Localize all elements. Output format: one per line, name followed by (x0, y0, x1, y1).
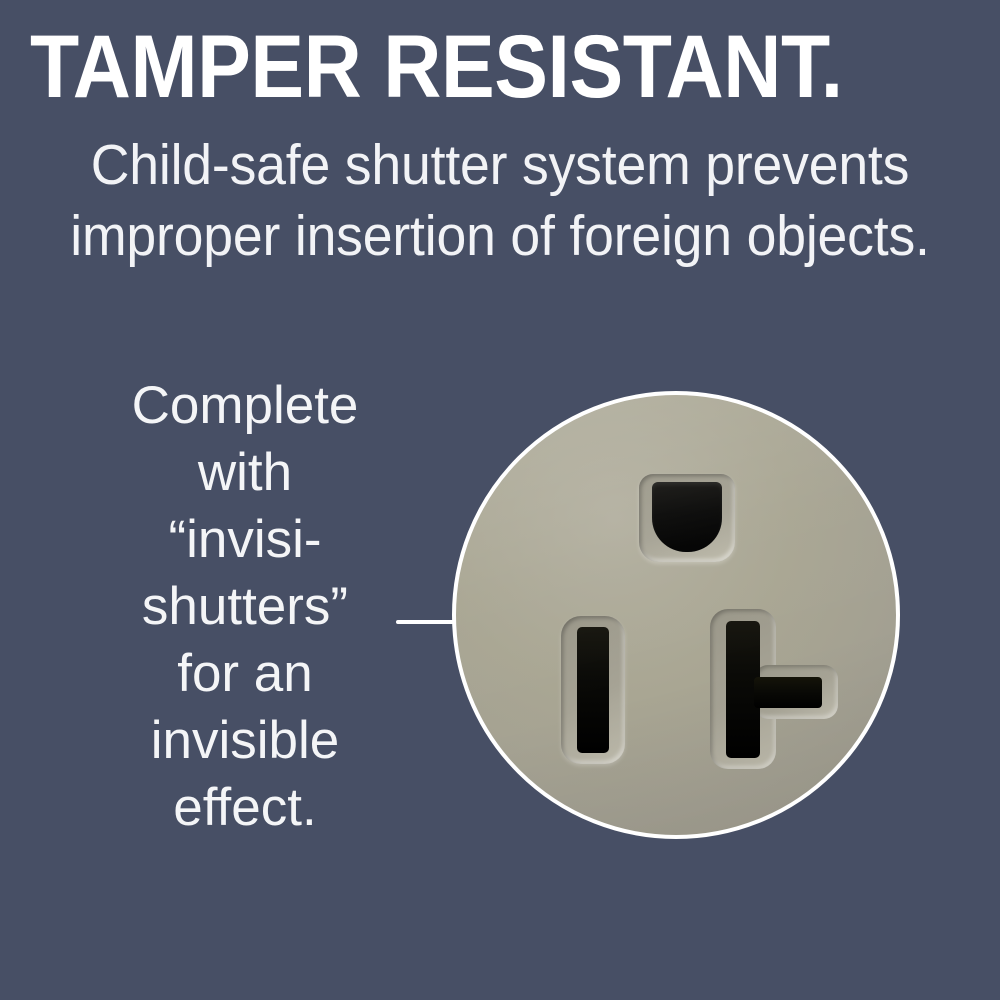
subtitle: Child-safe shutter system prevents impro… (0, 130, 1000, 272)
caption-line-6: invisible (75, 707, 415, 774)
ground-hole-icon (652, 482, 722, 552)
hot-t-slot-arm-icon (754, 677, 822, 708)
hot-slot-recess (710, 609, 838, 769)
subtitle-line-1: Child-safe shutter system prevents (30, 130, 970, 201)
outlet-magnifier-circle (452, 391, 900, 839)
caption-line-3: “invisi- (75, 506, 415, 573)
callout-caption: Complete with “invisi- shutters” for an … (75, 372, 415, 841)
caption-line-7: effect. (75, 774, 415, 841)
caption-line-1: Complete (75, 372, 415, 439)
neutral-slot-recess (561, 616, 625, 764)
caption-line-4: shutters” (75, 573, 415, 640)
neutral-slot-icon (577, 627, 609, 753)
caption-line-2: with (75, 439, 415, 506)
ground-hole-recess (639, 474, 735, 562)
page-title: TAMPER RESISTANT. (30, 20, 890, 112)
subtitle-line-2: improper insertion of foreign objects. (30, 201, 970, 272)
caption-line-5: for an (75, 640, 415, 707)
feature-graphic: TAMPER RESISTANT. Child-safe shutter sys… (0, 0, 1000, 1000)
